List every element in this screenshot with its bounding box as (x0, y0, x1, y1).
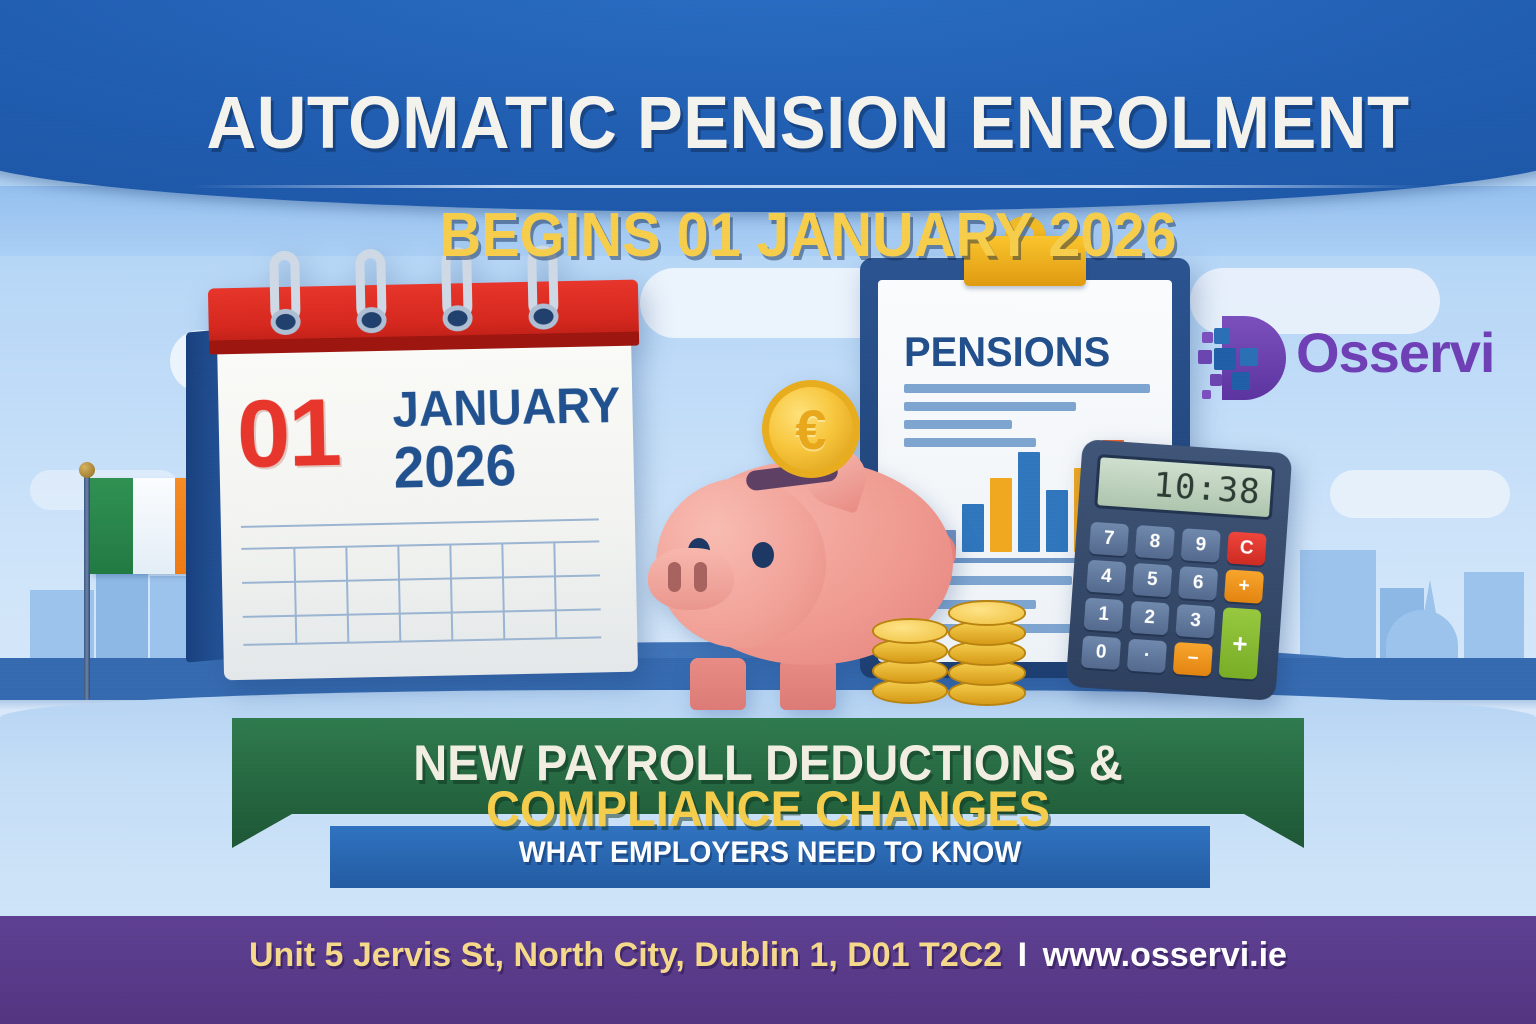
piggy-leg (780, 658, 836, 710)
calc-key-8[interactable]: 8 (1135, 525, 1175, 560)
logo-pixel (1202, 390, 1211, 399)
calc-key-0[interactable]: 0 (1081, 635, 1121, 670)
calc-key-1[interactable]: 1 (1084, 598, 1124, 633)
piggy-eye (752, 542, 774, 568)
coin (872, 618, 948, 644)
bar (1046, 490, 1068, 552)
calc-key-5[interactable]: 5 (1132, 563, 1172, 598)
calc-key-4[interactable]: 4 (1086, 560, 1126, 595)
calendar-month: JANUARY (392, 376, 621, 439)
logo-pixel (1232, 372, 1250, 390)
euro-coin-icon: € (762, 380, 860, 478)
page-title: AUTOMATIC PENSION ENROLMENT (94, 80, 1522, 165)
coin-stack-right (948, 600, 1026, 704)
osservi-wordmark: Osservi (1296, 320, 1495, 385)
calendar-year: 2026 (393, 432, 517, 502)
poster-canvas: 01 JANUARY 2026 PENSIONS (0, 0, 1536, 1024)
calc-key-plus-small[interactable]: + (1224, 569, 1264, 604)
footer-address: Unit 5 Jervis St, North City, Dublin 1, … (249, 936, 1002, 974)
calc-key-decimal[interactable]: · (1127, 639, 1167, 674)
calc-key-6[interactable]: 6 (1178, 566, 1218, 601)
clipboard-title: PENSIONS (904, 328, 1110, 376)
calculator-display: 10:38 (1094, 454, 1275, 520)
calc-key-9[interactable]: 9 (1181, 528, 1221, 563)
calc-key-plus[interactable]: + (1219, 607, 1262, 679)
footer-website[interactable]: www.osservi.ie (1043, 936, 1287, 974)
coin (948, 600, 1026, 626)
logo-pixel (1214, 348, 1236, 370)
calc-key-7[interactable]: 7 (1089, 522, 1129, 557)
calendar-grid (241, 518, 601, 643)
calc-key-minus[interactable]: − (1173, 642, 1213, 677)
calc-key-clear[interactable]: C (1227, 531, 1267, 566)
title-divider (190, 185, 1426, 188)
calc-key-3[interactable]: 3 (1175, 604, 1215, 639)
calculator-graphic: 10:38 7 8 9 C 4 5 6 + 1 2 3 0 · − + (1066, 439, 1293, 701)
osservi-logo: Osservi (1198, 312, 1498, 404)
text-line (904, 402, 1076, 411)
bar (990, 478, 1012, 552)
calculator-keypad[interactable]: 7 8 9 C 4 5 6 + 1 2 3 0 · − + (1081, 522, 1273, 684)
calc-key-2[interactable]: 2 (1130, 601, 1170, 636)
flag-finial (79, 462, 95, 478)
calendar-graphic: 01 JANUARY 2026 (208, 280, 646, 685)
text-line (904, 384, 1150, 393)
logo-pixel (1198, 350, 1212, 364)
footer-content: Unit 5 Jervis St, North City, Dublin 1, … (0, 936, 1536, 975)
sub-banner-text: WHAT EMPLOYERS NEED TO KNOW (352, 836, 1188, 870)
header-content: AUTOMATIC PENSION ENROLMENT BEGINS 01 JA… (40, 60, 1536, 272)
footer-separator: I (1012, 936, 1033, 974)
piggy-snout (648, 548, 734, 610)
osservi-logo-mark-icon (1198, 314, 1290, 402)
logo-pixel (1240, 348, 1258, 366)
logo-pixel (1202, 332, 1213, 343)
logo-pixel (1214, 328, 1230, 344)
page-subtitle: BEGINS 01 JANUARY 2026 (94, 200, 1522, 271)
coin-stack-left (872, 618, 948, 704)
calendar-day: 01 (236, 378, 341, 490)
logo-pixel (1210, 374, 1222, 386)
bar (1018, 452, 1040, 552)
piggy-leg (690, 658, 746, 710)
ribbon-line-2: COMPLIANCE CHANGES (264, 780, 1272, 838)
